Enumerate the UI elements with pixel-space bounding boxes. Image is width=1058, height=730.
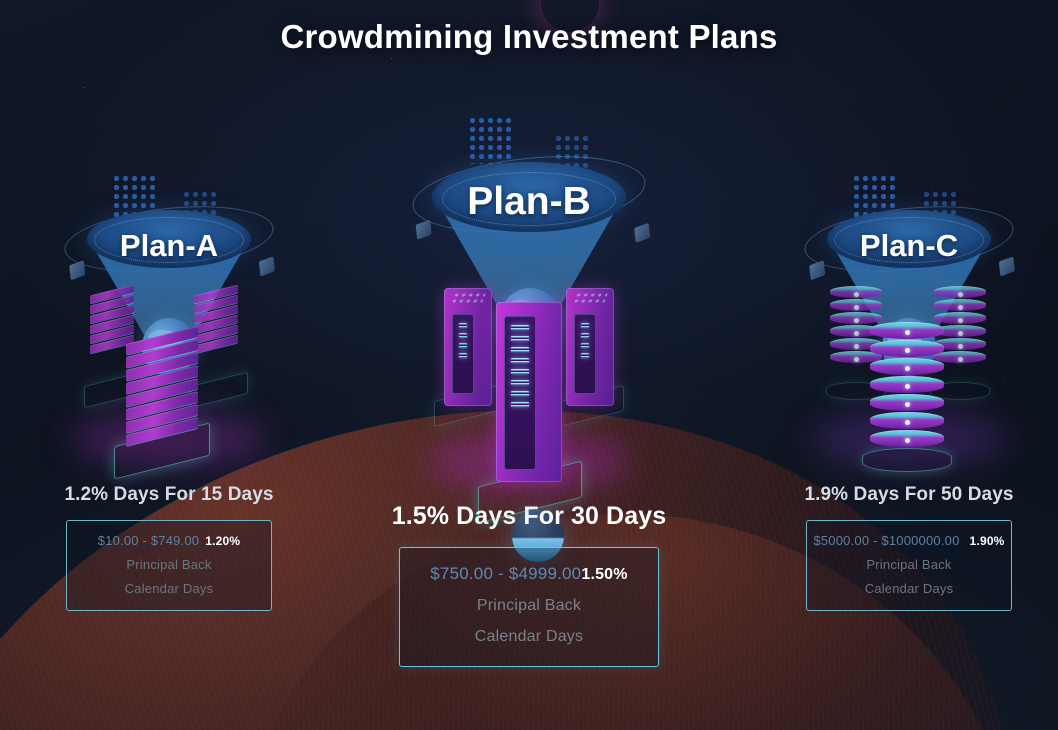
platform-ring-icon bbox=[862, 448, 952, 472]
plan-c-principal-back: Principal Back bbox=[817, 557, 1001, 572]
plan-b-rate: 1.50% bbox=[581, 566, 627, 584]
plan-card-c[interactable]: Plan-C 1.9% Days For 50 Days $5000. bbox=[770, 170, 1048, 611]
server-cabinet-side bbox=[444, 288, 492, 406]
plan-c-rate: 1.90% bbox=[970, 534, 1005, 548]
plan-card-a[interactable]: Plan-A 1.2% Days For 15 Days $10.00 bbox=[30, 170, 308, 611]
server-slab-stack bbox=[194, 290, 238, 348]
cabinet-vent-icon bbox=[572, 292, 609, 304]
page-title: Crowdmining Investment Plans bbox=[0, 18, 1058, 56]
plan-c-badge-label: Plan-C bbox=[794, 228, 1024, 264]
plan-b-principal-back: Principal Back bbox=[412, 597, 646, 615]
plan-b-calendar-days: Calendar Days bbox=[412, 628, 646, 646]
plan-a-heading: 1.2% Days For 15 Days bbox=[30, 484, 308, 506]
plan-c-price-row: $5000.00 - $1000000.00 1.90% bbox=[817, 533, 1001, 548]
database-cylinder-stack-main bbox=[870, 322, 944, 447]
investment-plans-container: Plan-A 1.2% Days For 15 Days $10.00 bbox=[0, 0, 1058, 730]
plan-a-price-range: $10.00 - $749.00 bbox=[98, 533, 200, 548]
plan-b-illustration: Plan-B bbox=[404, 110, 654, 490]
cabinet-vent-icon bbox=[450, 292, 487, 304]
plan-card-b[interactable]: Plan-B bbox=[390, 110, 668, 667]
server-cabinet-side bbox=[566, 288, 614, 406]
plan-a-price-row: $10.00 - $749.00 1.20% bbox=[77, 533, 261, 548]
plan-c-illustration: Plan-C bbox=[794, 170, 1024, 470]
dot-grid-icon bbox=[468, 116, 514, 164]
plan-b-badge-label: Plan-B bbox=[404, 180, 654, 224]
plan-c-calendar-days: Calendar Days bbox=[817, 581, 1001, 596]
plan-b-details-box[interactable]: $750.00 - $4999.00 1.50% Principal Back … bbox=[399, 547, 659, 667]
plan-b-price-range: $750.00 - $4999.00 bbox=[430, 564, 581, 584]
plan-b-price-row: $750.00 - $4999.00 1.50% bbox=[412, 564, 646, 584]
server-cabinet-main bbox=[496, 302, 562, 482]
plan-a-principal-back: Principal Back bbox=[77, 557, 261, 572]
plan-a-rate: 1.20% bbox=[205, 534, 240, 548]
plan-a-illustration: Plan-A bbox=[54, 170, 284, 470]
plan-c-heading: 1.9% Days For 50 Days bbox=[770, 484, 1048, 506]
plan-a-details-box[interactable]: $10.00 - $749.00 1.20% Principal Back Ca… bbox=[66, 520, 272, 611]
halo-node-icon bbox=[634, 223, 650, 243]
server-slab-stack-main bbox=[126, 335, 198, 437]
plan-a-calendar-days: Calendar Days bbox=[77, 581, 261, 596]
platform-pad-icon bbox=[190, 372, 248, 409]
plan-c-details-box[interactable]: $5000.00 - $1000000.00 1.90% Principal B… bbox=[806, 520, 1012, 611]
plan-a-badge-label: Plan-A bbox=[54, 228, 284, 264]
plan-c-price-range: $5000.00 - $1000000.00 bbox=[813, 533, 959, 548]
